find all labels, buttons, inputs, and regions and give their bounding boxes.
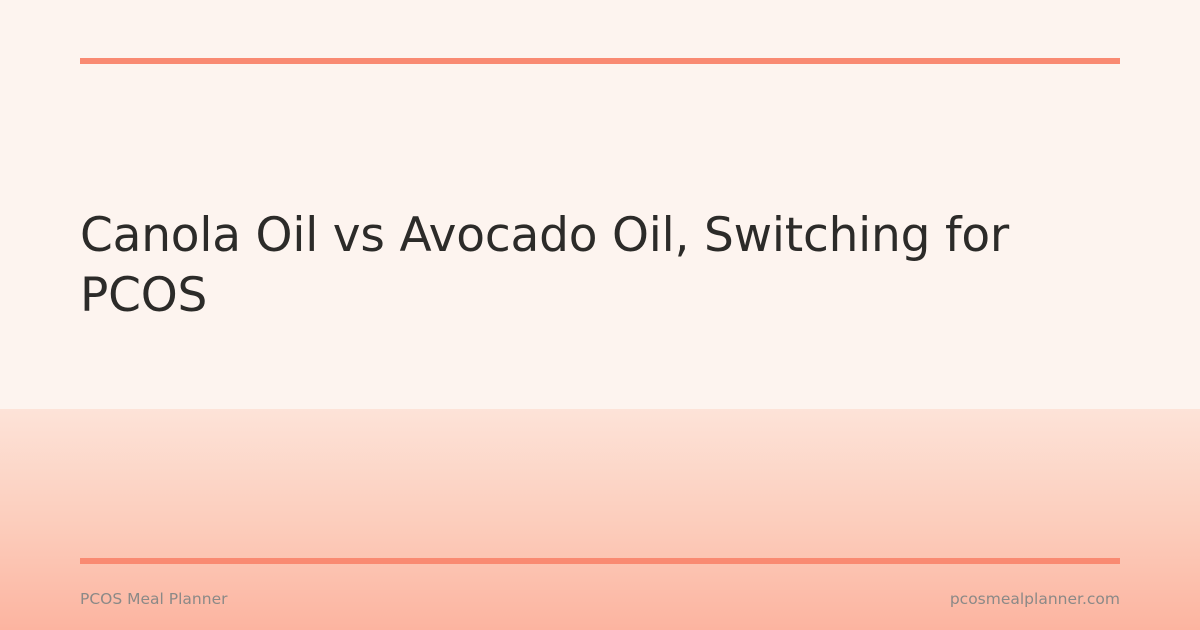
top-accent-rule: [80, 58, 1120, 64]
footer-brand-label: PCOS Meal Planner: [80, 584, 228, 614]
card-upper-section: Canola Oil vs Avocado Oil, Switching for…: [0, 0, 1200, 409]
social-share-card: Canola Oil vs Avocado Oil, Switching for…: [0, 0, 1200, 630]
card-footer: PCOS Meal Planner pcosmealplanner.com: [80, 584, 1120, 614]
bottom-accent-rule: [80, 558, 1120, 564]
footer-site-url: pcosmealplanner.com: [950, 584, 1120, 614]
title-block: Canola Oil vs Avocado Oil, Switching for…: [80, 206, 1040, 326]
card-lower-section: PCOS Meal Planner pcosmealplanner.com: [0, 409, 1200, 630]
page-title: Canola Oil vs Avocado Oil, Switching for…: [80, 206, 1040, 326]
